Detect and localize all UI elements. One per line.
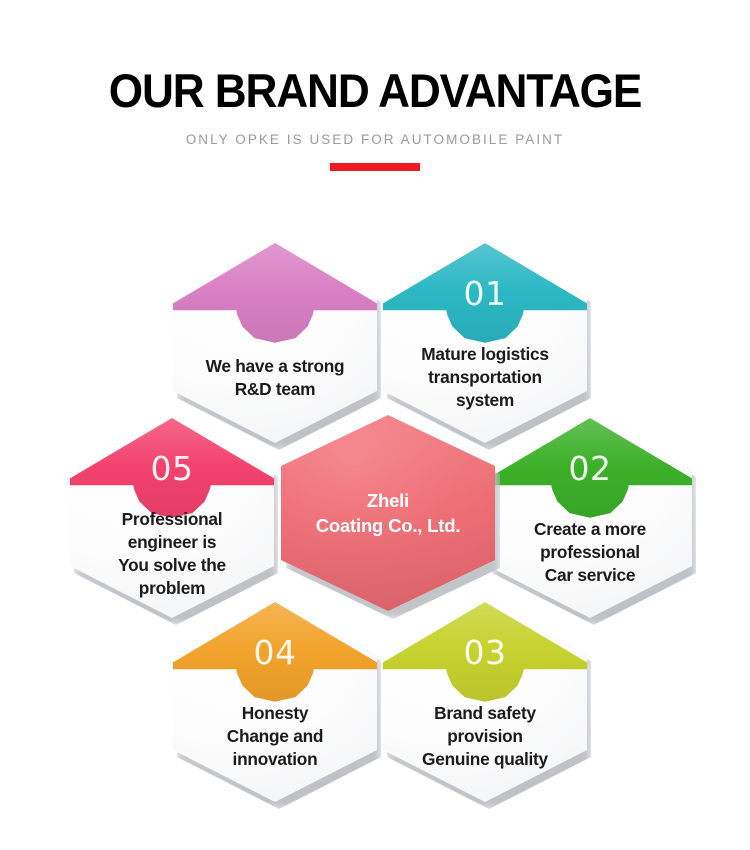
hex-cap-02 xyxy=(488,418,692,534)
hex-node-04[interactable]: 04 Honesty Change and innovation xyxy=(173,602,377,802)
hex-label-top-left: We have a strong R&D team xyxy=(185,355,365,401)
hex-label-05: Professional engineer is You solve the p… xyxy=(82,508,262,600)
hex-label-04: Honesty Change and innovation xyxy=(185,702,365,771)
hex-label-03: Brand safety provision Genuine quality xyxy=(395,702,575,771)
hex-label-01: Mature logistics transportation system xyxy=(395,343,575,412)
hex-node-03[interactable]: 03 Brand safety provision Genuine qualit… xyxy=(383,602,587,802)
hex-cap-top-left xyxy=(173,243,377,359)
hex-node-05[interactable]: 05 Professional engineer is You solve th… xyxy=(70,418,274,618)
hex-node-02[interactable]: 02 Create a more professional Car servic… xyxy=(488,418,692,618)
center-brand-label: Zheli Coating Co., Ltd. xyxy=(292,489,485,539)
hexagon-diagram: We have a strong R&D team 01 Mature logi… xyxy=(0,0,750,850)
hex-cap-03 xyxy=(383,602,587,718)
hex-cap-01 xyxy=(383,243,587,359)
hex-node-01[interactable]: 01 Mature logistics transportation syste… xyxy=(383,243,587,443)
hex-node-top-left[interactable]: We have a strong R&D team xyxy=(173,243,377,443)
hex-label-02: Create a more professional Car service xyxy=(500,518,680,587)
hex-node-center[interactable]: Zheli Coating Co., Ltd. xyxy=(281,415,495,611)
hex-cap-04 xyxy=(173,602,377,718)
